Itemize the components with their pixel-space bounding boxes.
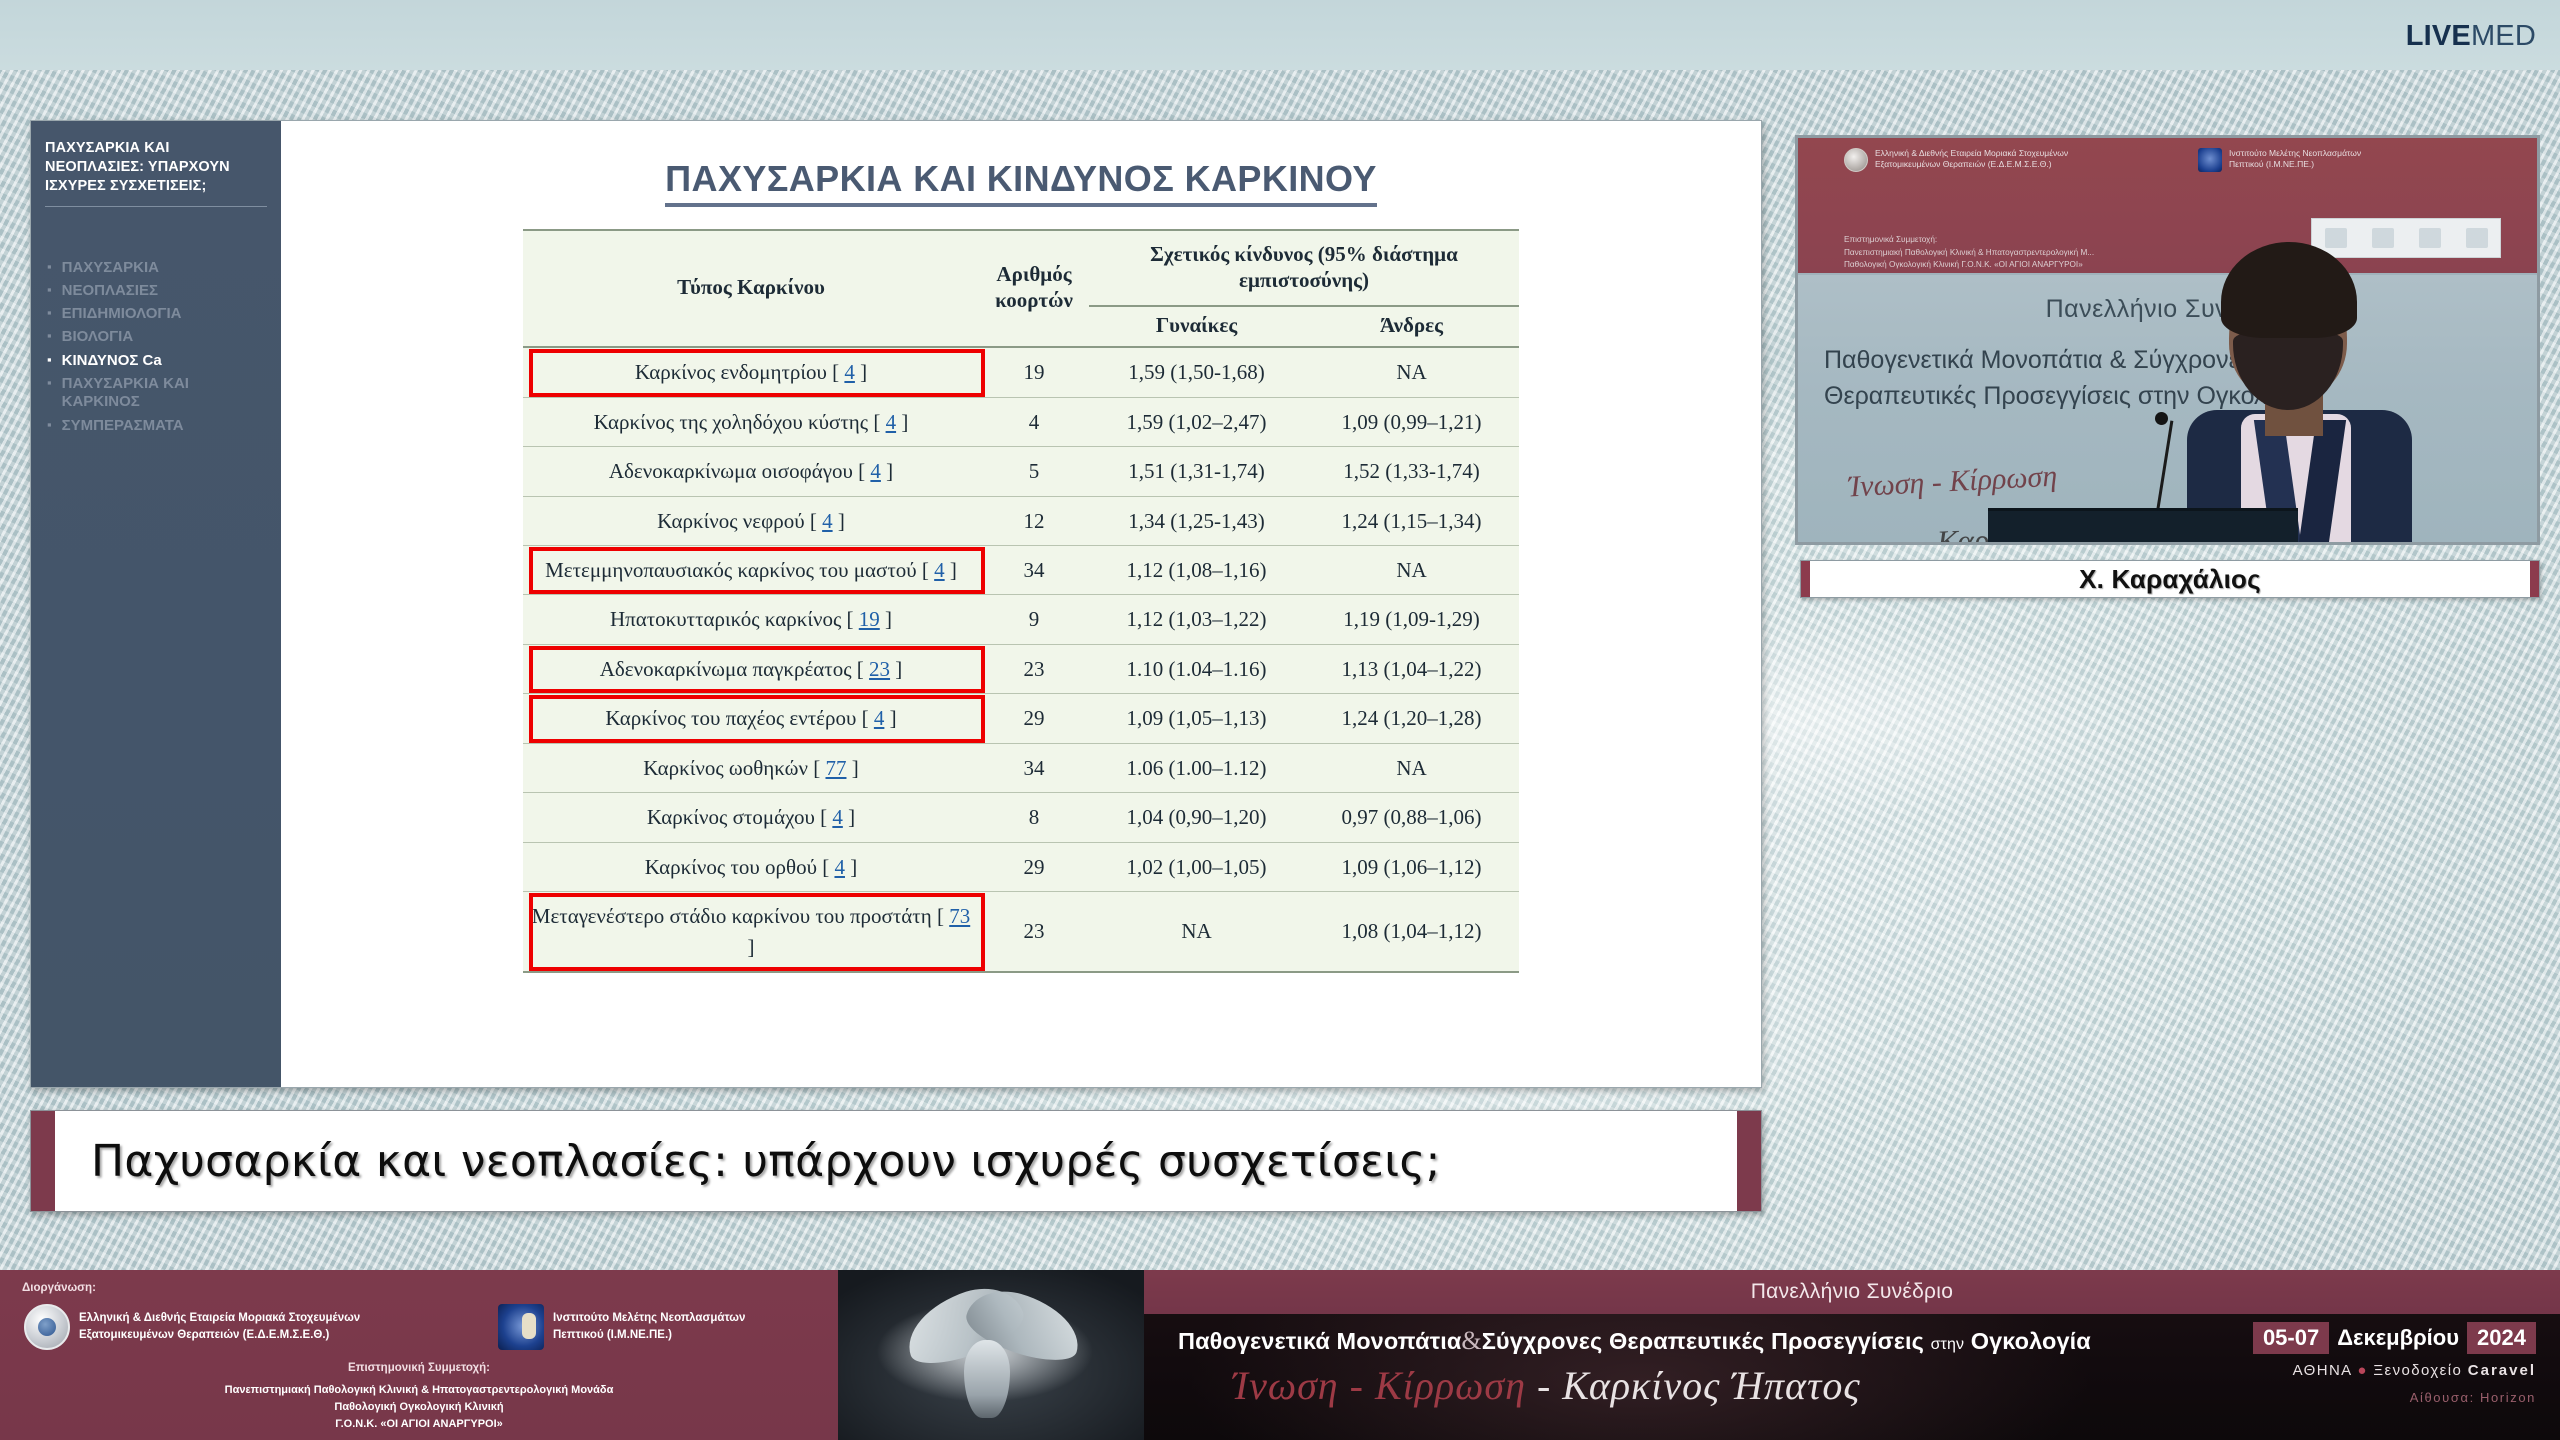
reference-bracket-close: ]	[881, 459, 893, 483]
footer-date-month: Δεκεμβρίου	[2337, 1325, 2459, 1351]
cancer-type-label: Καρκίνος της χοληδόχου κύστης [	[594, 410, 886, 434]
society-seal-icon	[1844, 148, 1868, 172]
cell-women: 1,34 (1,25-1,43)	[1089, 496, 1304, 545]
cell-men: NA	[1304, 347, 1519, 397]
table-row: Καρκίνος ενδομητρίου [ 4 ]191,59 (1,50-1…	[523, 347, 1519, 397]
banner-logo-group-1: Ελληνική & Διεθνής Εταιρεία Μοριακά Στοχ…	[1844, 148, 2068, 172]
table-row: Αδενοκαρκίνωμα οισοφάγου [ 4 ]51,51 (1,3…	[523, 447, 1519, 496]
presentation-title-text: Παχυσαρκία και νεοπλασίες: υπάρχουν ισχυ…	[31, 1136, 1441, 1187]
th-men: Άνδρες	[1304, 306, 1519, 347]
sidebar-item-5[interactable]: ▪ΠΑΧΥΣΑΡΚΙΑ ΚΑΙ ΚΑΡΚΙΝΟΣ	[45, 375, 267, 412]
footer-congress-title-c: Ογκολογία	[1971, 1328, 2091, 1354]
sidebar-divider	[45, 206, 267, 207]
cell-cohorts: 34	[979, 546, 1089, 595]
reference-bracket-close: ]	[945, 558, 957, 582]
cell-men: NA	[1304, 743, 1519, 792]
table-body: Καρκίνος ενδομητρίου [ 4 ]191,59 (1,50-1…	[523, 347, 1519, 972]
bullet-dot-icon: ●	[2357, 1362, 2367, 1379]
banner-org1-line1: Ελληνική & Διεθνής Εταιρεία Μοριακά Στοχ…	[1875, 148, 2068, 159]
reference-bracket-close: ]	[880, 607, 892, 631]
footer-org-label: Διοργάνωση:	[22, 1282, 96, 1294]
reference-link[interactable]: 4	[834, 855, 845, 879]
sidebar-item-label: ΝΕΟΠΛΑΣΙΕΣ	[62, 282, 158, 300]
footer-org2-line1: Ινστιτούτο Μελέτης Νεοπλασμάτων	[553, 1310, 745, 1327]
cell-cancer-type: Καρκίνος ωοθηκών [ 77 ]	[523, 743, 979, 792]
footer-congress-amp: &	[1461, 1326, 1481, 1355]
cancer-type-label: Ηπατοκυτταρικός καρκίνος [	[610, 607, 859, 631]
th-women: Γυναίκες	[1089, 306, 1304, 347]
sponsor-chip-icon	[2466, 228, 2488, 248]
footer-script-title: Ίνωση - Κίρρωση - Καρκίνος Ήπατος	[1232, 1362, 1861, 1409]
cell-cohorts: 4	[979, 397, 1089, 446]
footer-sci-lines: Πανεπιστημιακή Παθολογική Κλινική & Ηπατ…	[0, 1382, 838, 1433]
cell-cancer-type: Μετεμμηνοπαυσιακός καρκίνος του μαστού […	[523, 546, 979, 595]
speaker-name-accent-left	[1801, 561, 1810, 597]
reference-link[interactable]: 4	[934, 558, 945, 582]
cell-cohorts: 9	[979, 595, 1089, 644]
footer-venue-hotel-label: Ξενοδοχείο	[2373, 1362, 2462, 1379]
cell-cohorts: 34	[979, 743, 1089, 792]
table-row: Μεταγενέστερο στάδιο καρκίνου του προστά…	[523, 892, 1519, 972]
cell-cancer-type: Αδενοκαρκίνωμα οισοφάγου [ 4 ]	[523, 447, 979, 496]
livemed-logo: LIVEMED	[2406, 22, 2536, 51]
cell-men: 1,09 (1,06–1,12)	[1304, 842, 1519, 891]
cell-cancer-type: Αδενοκαρκίνωμα παγκρέατος [ 23 ]	[523, 644, 979, 693]
banner-sci-label: Επιστημονικά Συμμετοχή:	[1844, 234, 2094, 247]
footer-congress-label: Πανελλήνιο Συνέδριο	[1751, 1280, 1954, 1304]
footer-org1-line1: Ελληνική & Διεθνής Εταιρεία Μοριακά Στοχ…	[79, 1310, 360, 1327]
cell-women: 1,59 (1,50-1,68)	[1089, 347, 1304, 397]
footer-congress-title: Παθογενετικά Μονοπάτια&Σύγχρονες Θεραπευ…	[1178, 1326, 2091, 1356]
footer-banner: Διοργάνωση: Ελληνική & Διεθνής Εταιρεία …	[0, 1270, 2560, 1440]
sidebar-title: ΠΑΧΥΣΑΡΚΙΑ ΚΑΙ ΝΕΟΠΛΑΣΙΕΣ: ΥΠΑΡΧΟΥΝ ΙΣΧΥ…	[45, 139, 267, 196]
cell-cancer-type: Μεταγενέστερο στάδιο καρκίνου του προστά…	[523, 892, 979, 972]
speaker-video-thumbnail[interactable]: Ελληνική & Διεθνής Εταιρεία Μοριακά Στοχ…	[1795, 135, 2540, 545]
table-header-row-main: Τύπος Καρκίνου Αριθμός κοορτών Σχετικός …	[523, 230, 1519, 307]
sidebar-item-label: ΣΥΜΠΕΡΑΣΜΑΤΑ	[62, 417, 184, 435]
speaker-name-text: Χ. Καραχάλιος	[2079, 564, 2261, 595]
banner-script-line1: Ίνωση - Κίρρωση	[1847, 460, 2058, 505]
footer-sci-label: Επιστημονική Συμμετοχή:	[0, 1362, 838, 1374]
table-row: Καρκίνος του ορθού [ 4 ]291,02 (1,00–1,0…	[523, 842, 1519, 891]
footer-org2-text: Ινστιτούτο Μελέτης Νεοπλασμάτων Πεπτικού…	[553, 1310, 745, 1343]
cell-men: 1,24 (1,20–1,28)	[1304, 694, 1519, 743]
table-row: Ηπατοκυτταρικός καρκίνος [ 19 ]91,12 (1,…	[523, 595, 1519, 644]
reference-link[interactable]: 4	[886, 410, 897, 434]
footer-congress-title-b: Σύγχρονες Θεραπευτικές Προσεγγίσεις	[1482, 1328, 1924, 1354]
title-accent-right	[1737, 1111, 1761, 1211]
table-row: Καρκίνος της χοληδόχου κύστης [ 4 ]41,59…	[523, 397, 1519, 446]
cancer-type-label: Καρκίνος ωοθηκών [	[643, 756, 825, 780]
banner-org2-line1: Ινστιτούτο Μελέτης Νεοπλασμάτων	[2229, 148, 2361, 159]
th-cohorts: Αριθμός κοορτών	[979, 230, 1089, 348]
reference-link[interactable]: 4	[844, 360, 855, 384]
cell-men: 1,52 (1,33-1,74)	[1304, 447, 1519, 496]
sidebar-item-label: ΠΑΧΥΣΑΡΚΙΑ	[62, 259, 159, 277]
banner-scientific-block: Επιστημονικά Συμμετοχή: Πανεπιστημιακή Π…	[1844, 234, 2094, 272]
cell-women: 1,12 (1,08–1,16)	[1089, 546, 1304, 595]
table-head: Τύπος Καρκίνου Αριθμός κοορτών Σχετικός …	[523, 230, 1519, 348]
cell-cancer-type: Καρκίνος του ορθού [ 4 ]	[523, 842, 979, 891]
bullet-icon: ▪	[47, 282, 52, 299]
footer-sci-line2: Παθολογική Ογκολογική Κλινική	[0, 1399, 838, 1416]
slide-sidebar: ΠΑΧΥΣΑΡΚΙΑ ΚΑΙ ΝΕΟΠΛΑΣΙΕΣ: ΥΠΑΡΧΟΥΝ ΙΣΧΥ…	[31, 121, 281, 1087]
cancer-type-label: Καρκίνος ενδομητρίου [	[635, 360, 845, 384]
reference-link[interactable]: 19	[859, 607, 880, 631]
reference-bracket-close: ]	[855, 360, 867, 384]
footer-org1: Ελληνική & Διεθνής Εταιρεία Μοριακά Στοχ…	[24, 1304, 360, 1350]
sidebar-item-4[interactable]: ▪ΚΙΝΔΥΝΟΣ Ca	[45, 352, 267, 370]
cell-men: 0,97 (0,88–1,06)	[1304, 793, 1519, 842]
reference-bracket-close: ]	[748, 935, 755, 959]
society-seal-icon	[24, 1304, 70, 1350]
speaker-name-accent-right	[2530, 561, 2539, 597]
reference-link[interactable]: 73	[949, 904, 970, 928]
livemed-logo-live: LIVE	[2406, 20, 2471, 52]
footer-venue-city: ΑΘΗΝΑ	[2293, 1362, 2352, 1379]
cell-women: 1,02 (1,00–1,05)	[1089, 842, 1304, 891]
footer-organizers: Διοργάνωση: Ελληνική & Διεθνής Εταιρεία …	[0, 1270, 838, 1440]
bullet-icon: ▪	[47, 417, 52, 434]
footer-congress-block: Πανελλήνιο Συνέδριο Παθογενετικά Μονοπάτ…	[1144, 1270, 2560, 1440]
slide-content: ΠΑΧΥΣΑΡΚΙΑ ΚΑΙ ΚΙΝΔΥΝΟΣ ΚΑΡΚΙΝΟΥ Τύπος Κ…	[281, 121, 1761, 1087]
footer-org1-line2: Εξατομικευμένων Θεραπειών (Ε.Δ.Ε.Μ.Σ.Ε.Θ…	[79, 1327, 360, 1344]
sidebar-item-3[interactable]: ▪ΒΙΟΛΟΓΙΑ	[45, 328, 267, 346]
th-cancer-type: Τύπος Καρκίνου	[523, 230, 979, 348]
reference-bracket-close: ]	[833, 509, 845, 533]
banner-org2-line2: Πεπτικού (Ι.Μ.ΝΕ.ΠΕ.)	[2229, 159, 2361, 170]
reference-bracket-close: ]	[890, 657, 902, 681]
cancer-type-label: Καρκίνος στομάχου [	[647, 805, 832, 829]
sidebar-item-label: ΒΙΟΛΟΓΙΑ	[62, 328, 134, 346]
cancer-risk-table: Τύπος Καρκίνου Αριθμός κοορτών Σχετικός …	[523, 229, 1519, 973]
cell-women: 1,09 (1,05–1,13)	[1089, 694, 1304, 743]
cell-men: 1,19 (1,09-1,29)	[1304, 595, 1519, 644]
cell-cancer-type: Καρκίνος της χοληδόχου κύστης [ 4 ]	[523, 397, 979, 446]
sidebar-item-label: ΠΑΧΥΣΑΡΚΙΑ ΚΑΙ ΚΑΡΚΙΝΟΣ	[62, 375, 267, 412]
reference-link[interactable]: 4	[870, 459, 881, 483]
footer-venue: ΑΘΗΝΑ ● Ξενοδοχείο Caravel	[2293, 1362, 2536, 1379]
slide-heading-text: ΠΑΧΥΣΑΡΚΙΑ ΚΑΙ ΚΙΝΔΥΝΟΣ ΚΑΡΚΙΝΟΥ	[665, 158, 1377, 207]
cell-women: 1,04 (0,90–1,20)	[1089, 793, 1304, 842]
reference-bracket-close: ]	[846, 756, 858, 780]
footer-sci-line3: Γ.Ο.Ν.Κ. «ΟΙ ΑΓΙΟΙ ΑΝΑΡΓΥΡΟΙ»	[0, 1416, 838, 1433]
microphone-head-icon	[2155, 412, 2168, 425]
cell-men: 1,08 (1,04–1,12)	[1304, 892, 1519, 972]
bullet-icon: ▪	[47, 328, 52, 345]
reference-link[interactable]: 4	[874, 706, 885, 730]
cancer-type-label: Αδενοκαρκίνωμα παγκρέατος [	[600, 657, 869, 681]
cell-women: NA	[1089, 892, 1304, 972]
cell-cohorts: 23	[979, 892, 1089, 972]
cell-cancer-type: Καρκίνος του παχέος εντέρου [ 4 ]	[523, 694, 979, 743]
title-accent-left	[31, 1111, 55, 1211]
cell-cohorts: 8	[979, 793, 1089, 842]
banner-logo-group-2: Ινστιτούτο Μελέτης Νεοπλασμάτων Πεπτικού…	[2198, 148, 2361, 172]
footer-org2: Ινστιτούτο Μελέτης Νεοπλασμάτων Πεπτικού…	[498, 1304, 745, 1350]
cell-women: 1,51 (1,31-1,74)	[1089, 447, 1304, 496]
footer-hall: Αίθουσα: Horizon	[2410, 1390, 2536, 1405]
cell-women: 1.10 (1.04–1.16)	[1089, 644, 1304, 693]
sidebar-item-1[interactable]: ▪ΝΕΟΠΛΑΣΙΕΣ	[45, 282, 267, 300]
bullet-icon: ▪	[47, 259, 52, 276]
cell-cohorts: 12	[979, 496, 1089, 545]
sidebar-item-0[interactable]: ▪ΠΑΧΥΣΑΡΚΙΑ	[45, 259, 267, 277]
table-row: Καρκίνος στομάχου [ 4 ]81,04 (0,90–1,20)…	[523, 793, 1519, 842]
cancer-type-label: Αδενοκαρκίνωμα οισοφάγου [	[609, 459, 871, 483]
cell-women: 1,12 (1,03–1,22)	[1089, 595, 1304, 644]
sidebar-item-label: ΚΙΝΔΥΝΟΣ Ca	[62, 352, 162, 370]
video-backdrop-banner: Ελληνική & Διεθνής Εταιρεία Μοριακά Στοχ…	[1798, 138, 2537, 542]
cell-women: 1,59 (1,02–2,47)	[1089, 397, 1304, 446]
footer-org2-line2: Πεπτικού (Ι.Μ.ΝΕ.ΠΕ.)	[553, 1327, 745, 1344]
table-row: Καρκίνος ωοθηκών [ 77 ]341.06 (1.00–1.12…	[523, 743, 1519, 792]
speaker-beard	[2233, 332, 2343, 410]
banner-org1-text: Ελληνική & Διεθνής Εταιρεία Μοριακά Στοχ…	[1875, 148, 2068, 171]
cell-cohorts: 23	[979, 644, 1089, 693]
footer-date-range: 05-07	[2253, 1322, 2329, 1354]
footer-congress-title-small: στην	[1931, 1336, 1965, 1353]
footer-org1-text: Ελληνική & Διεθνής Εταιρεία Μοριακά Στοχ…	[79, 1310, 360, 1343]
sidebar-item-2[interactable]: ▪ΕΠΙΔΗΜΙΟΛΟΓΙΑ	[45, 305, 267, 323]
cell-women: 1.06 (1.00–1.12)	[1089, 743, 1304, 792]
cancer-risk-table-wrapper: Τύπος Καρκίνου Αριθμός κοορτών Σχετικός …	[523, 229, 1519, 973]
footer-artwork	[838, 1270, 1144, 1440]
cell-men: NA	[1304, 546, 1519, 595]
livemed-logo-med: MED	[2471, 20, 2536, 52]
cancer-type-label: Καρκίνος του ορθού [	[645, 855, 835, 879]
cell-cancer-type: Καρκίνος ενδομητρίου [ 4 ]	[523, 347, 979, 397]
slide-heading: ΠΑΧΥΣΑΡΚΙΑ ΚΑΙ ΚΙΝΔΥΝΟΣ ΚΑΡΚΙΝΟΥ	[281, 159, 1761, 199]
reference-link[interactable]: 4	[832, 805, 843, 829]
background-top-band	[0, 0, 2560, 70]
sidebar-item-label: ΕΠΙΔΗΜΙΟΛΟΓΙΑ	[62, 305, 182, 323]
cell-cohorts: 19	[979, 347, 1089, 397]
artwork-figure-body	[964, 1340, 1010, 1418]
cell-cancer-type: Καρκίνος στομάχου [ 4 ]	[523, 793, 979, 842]
table-row: Καρκίνος νεφρού [ 4 ]121,34 (1,25-1,43)1…	[523, 496, 1519, 545]
cell-cohorts: 5	[979, 447, 1089, 496]
presentation-title-bar: Παχυσαρκία και νεοπλασίες: υπάρχουν ισχυ…	[30, 1110, 1762, 1212]
cell-cancer-type: Καρκίνος νεφρού [ 4 ]	[523, 496, 979, 545]
banner-org1-line2: Εξατομικευμένων Θεραπειών (Ε.Δ.Ε.Μ.Σ.Ε.Θ…	[1875, 159, 2068, 170]
cell-cancer-type: Ηπατοκυτταρικός καρκίνος [ 19 ]	[523, 595, 979, 644]
cell-cohorts: 29	[979, 694, 1089, 743]
footer-script-b: - Καρκίνος Ήπατος	[1526, 1363, 1861, 1408]
institute-logo-icon	[498, 1304, 544, 1350]
table-row: Αδενοκαρκίνωμα παγκρέατος [ 23 ]231.10 (…	[523, 644, 1519, 693]
cancer-type-label: Μετεμμηνοπαυσιακός καρκίνος του μαστού [	[545, 558, 934, 582]
footer-script-a: Ίνωση - Κίρρωση	[1232, 1363, 1526, 1408]
cell-men: 1,13 (1,04–1,22)	[1304, 644, 1519, 693]
footer-date-year: 2024	[2467, 1322, 2536, 1354]
bullet-icon: ▪	[47, 305, 52, 322]
cancer-type-label: Καρκίνος του παχέος εντέρου [	[605, 706, 874, 730]
bullet-icon: ▪	[47, 375, 52, 392]
reference-bracket-close: ]	[896, 410, 908, 434]
speaker-figure	[2167, 192, 2427, 542]
table-row: Καρκίνος του παχέος εντέρου [ 4 ]291,09 …	[523, 694, 1519, 743]
reference-link[interactable]: 77	[825, 756, 846, 780]
reference-link[interactable]: 23	[869, 657, 890, 681]
cell-cohorts: 29	[979, 842, 1089, 891]
cell-men: 1,24 (1,15–1,34)	[1304, 496, 1519, 545]
footer-venue-hotel: Caravel	[2468, 1362, 2536, 1379]
footer-sci-line1: Πανεπιστημιακή Παθολογική Κλινική & Ηπατ…	[0, 1382, 838, 1399]
reference-link[interactable]: 4	[822, 509, 833, 533]
banner-sci-line1: Πανεπιστημιακή Παθολογική Κλινική & Ηπατ…	[1844, 247, 2094, 260]
reference-bracket-close: ]	[845, 855, 857, 879]
bullet-icon: ▪	[47, 352, 52, 369]
footer-congress-label-band: Πανελλήνιο Συνέδριο	[1144, 1270, 2560, 1314]
slide-panel: ΠΑΧΥΣΑΡΚΙΑ ΚΑΙ ΝΕΟΠΛΑΣΙΕΣ: ΥΠΑΡΧΟΥΝ ΙΣΧΥ…	[30, 120, 1762, 1088]
th-relative-risk: Σχετικός κίνδυνος (95% διάστημα εμπιστοσ…	[1089, 230, 1519, 307]
footer-dates: 05-07 Δεκεμβρίου 2024	[2253, 1322, 2536, 1354]
podium	[1988, 508, 2298, 542]
footer-congress-title-a: Παθογενετικά Μονοπάτια	[1178, 1328, 1461, 1354]
sidebar-item-6[interactable]: ▪ΣΥΜΠΕΡΑΣΜΑΤΑ	[45, 417, 267, 435]
institute-logo-icon	[2198, 148, 2222, 172]
sidebar-nav-list: ▪ΠΑΧΥΣΑΡΚΙΑ▪ΝΕΟΠΛΑΣΙΕΣ▪ΕΠΙΔΗΜΙΟΛΟΓΙΑ▪ΒΙΟ…	[45, 259, 267, 435]
cancer-type-label: Μεταγενέστερο στάδιο καρκίνου του προστά…	[532, 904, 949, 928]
reference-bracket-close: ]	[843, 805, 855, 829]
speaker-hair	[2221, 242, 2357, 338]
banner-org2-text: Ινστιτούτο Μελέτης Νεοπλασμάτων Πεπτικού…	[2229, 148, 2361, 171]
banner-sci-line2: Παθολογική Ογκολογική Κλινική Γ.Ο.Ν.Κ. «…	[1844, 259, 2094, 272]
cancer-type-label: Καρκίνος νεφρού [	[657, 509, 822, 533]
reference-bracket-close: ]	[884, 706, 896, 730]
speaker-name-bar: Χ. Καραχάλιος	[1800, 560, 2540, 598]
cell-men: 1,09 (0,99–1,21)	[1304, 397, 1519, 446]
table-row: Μετεμμηνοπαυσιακός καρκίνος του μαστού […	[523, 546, 1519, 595]
